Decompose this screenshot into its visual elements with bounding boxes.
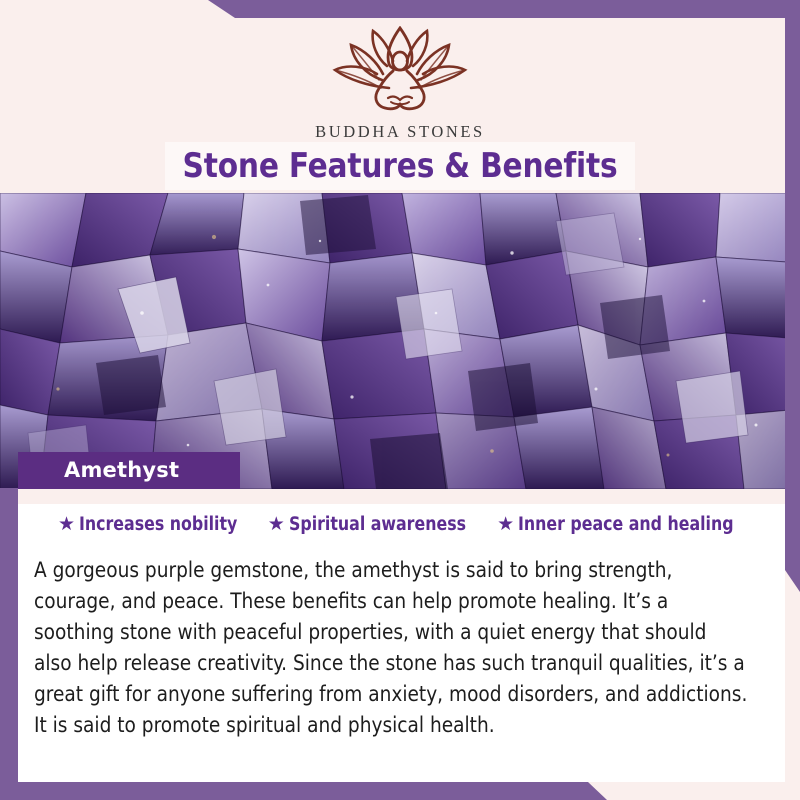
brand-logo: BUDDHA STONES [0, 26, 800, 142]
content-panel: ★ Increases nobility ★ Spiritual awarene… [18, 489, 785, 782]
benefit-item: ★ Increases nobility [58, 514, 246, 535]
star-icon: ★ [58, 515, 75, 534]
lotus-meditation-icon [325, 26, 475, 118]
infographic-card: BUDDHA STONES Stone Features & Benefits [0, 0, 800, 800]
benefits-list: ★ Increases nobility ★ Spiritual awarene… [18, 514, 785, 535]
amethyst-crystal-cluster-image [0, 193, 800, 489]
benefit-label: Inner peace and healing [518, 514, 734, 535]
star-icon: ★ [497, 515, 514, 534]
page-title: Stone Features & Benefits [172, 142, 628, 190]
frame-left-bar [0, 488, 18, 800]
benefit-item: ★ Inner peace and healing [497, 514, 745, 535]
hero-image [0, 193, 800, 489]
benefit-label: Increases nobility [79, 514, 237, 535]
frame-bottom-bar [0, 782, 800, 800]
benefit-label: Spiritual awareness [289, 514, 466, 535]
benefit-item: ★ Spiritual awareness [268, 514, 475, 535]
brand-name: BUDDHA STONES [0, 122, 800, 142]
content-top-fade [18, 489, 785, 504]
stone-name-label: Amethyst [18, 452, 240, 489]
stone-name-tag: Amethyst [18, 452, 240, 489]
page-title-band: Stone Features & Benefits [165, 142, 635, 190]
frame-right-bar [785, 0, 800, 592]
stone-description: A gorgeous purple gemstone, the amethyst… [34, 555, 748, 741]
star-icon: ★ [268, 515, 285, 534]
header: BUDDHA STONES Stone Features & Benefits [0, 0, 800, 193]
